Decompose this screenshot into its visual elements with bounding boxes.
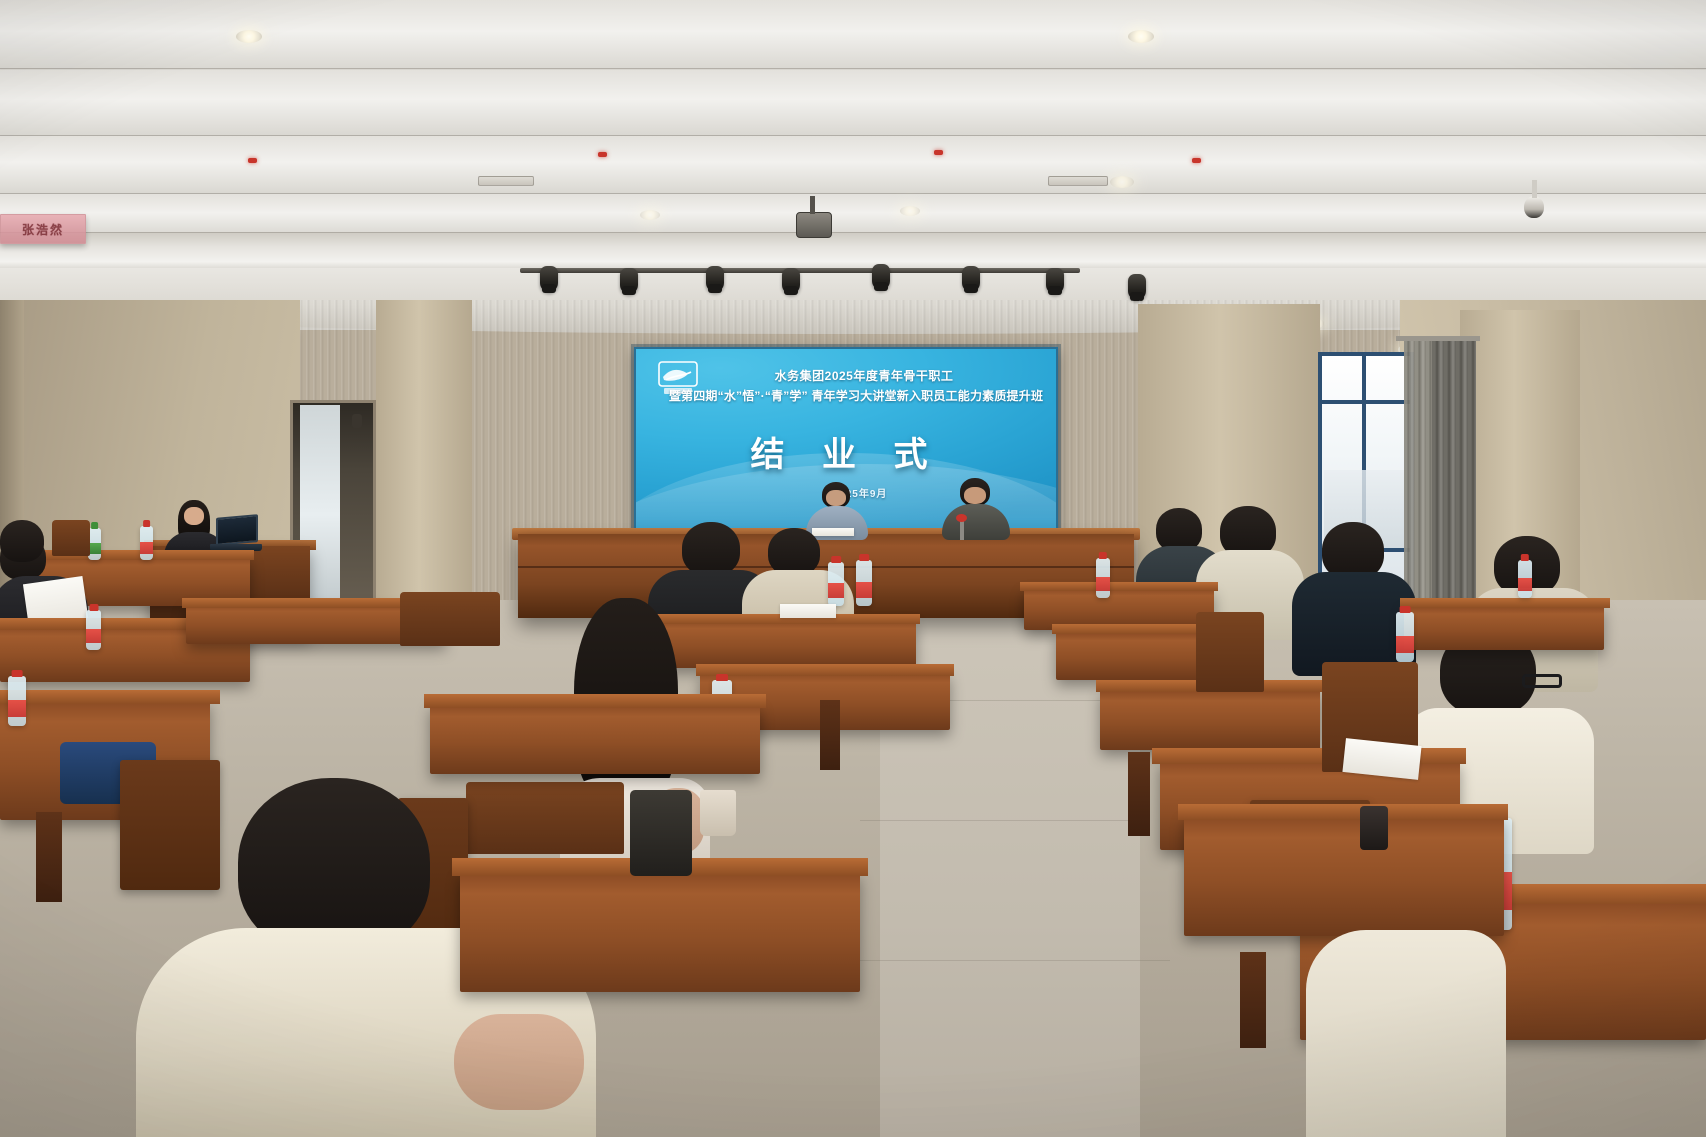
operator-face xyxy=(184,507,204,525)
track-spotlight-4 xyxy=(782,268,800,294)
desk-leg-right xyxy=(1128,752,1150,836)
track-spotlight-7 xyxy=(1046,268,1064,294)
curtain-rod xyxy=(1396,336,1480,341)
downlight-1 xyxy=(236,30,262,43)
screen-org-line: 水务集团2025年度青年骨干职工 xyxy=(654,367,1058,384)
desk-leg-right-2 xyxy=(1240,952,1266,1048)
track-spotlight-1 xyxy=(540,266,558,292)
screen-main-title: 结 业 式 xyxy=(636,427,1056,476)
center-paper-1[interactable] xyxy=(780,604,836,618)
left-near-desk-surface xyxy=(0,690,220,704)
head-table-microphone xyxy=(960,520,964,540)
center-desk-row2-surface xyxy=(696,664,954,676)
center-desk-row3-surface xyxy=(424,694,766,708)
placard-zhang-haoran: 张浩然 xyxy=(0,214,86,244)
ceiling-projector xyxy=(796,212,832,238)
left-desk-leg xyxy=(36,812,62,902)
center-desk-row3 xyxy=(430,704,760,774)
water-bottle-4[interactable] xyxy=(8,676,26,726)
ac-vent-left xyxy=(478,176,534,186)
water-bottle-3[interactable] xyxy=(86,610,101,650)
right-far-desk xyxy=(1404,606,1604,650)
right-thermos[interactable] xyxy=(1360,806,1388,850)
floor-tile-line-3 xyxy=(830,960,1170,961)
right-glasses-icon xyxy=(1522,674,1562,688)
track-spotlight-6 xyxy=(962,266,980,292)
projector-mount xyxy=(810,196,815,214)
front-attendee-arm xyxy=(454,1014,584,1110)
speaker-right-face xyxy=(964,487,986,504)
water-bottle-6[interactable] xyxy=(856,560,872,606)
speaker-left-face xyxy=(826,490,846,506)
conference-room-photo: 水务集团2025年度青年骨干职工 暨第四期“水”悟”·“青”学” 青年学习大讲堂… xyxy=(0,0,1706,1137)
center-chair-1[interactable] xyxy=(400,592,500,646)
right-desk-row3 xyxy=(1100,690,1320,750)
attendee-bottom-right xyxy=(1306,930,1506,1137)
right-desk-row1-surface xyxy=(1020,582,1218,591)
head-table-speaker-right xyxy=(942,478,1010,538)
far-left-head xyxy=(0,520,44,562)
ceiling-band-2 xyxy=(0,70,1706,136)
bottom-right-desk-2-surface xyxy=(1178,804,1508,820)
water-bottle-2[interactable] xyxy=(140,526,153,560)
wall-column-left xyxy=(376,300,472,630)
downlight-9 xyxy=(1110,176,1134,188)
right-far-desk-surface xyxy=(1400,598,1610,608)
right-chair-1[interactable] xyxy=(1196,612,1264,692)
track-spotlight-8 xyxy=(1128,274,1146,300)
track-spotlight-5 xyxy=(872,264,890,290)
speaker-right-body xyxy=(942,504,1010,540)
screen-program-line: 暨第四期“水”悟”·“青”学” 青年学习大讲堂新入职员工能力素质提升班 xyxy=(646,387,1058,404)
water-bottle-8[interactable] xyxy=(1096,558,1110,598)
ceiling-band-3 xyxy=(0,136,1706,194)
water-bottle-9[interactable] xyxy=(1396,612,1414,662)
water-bottle-10[interactable] xyxy=(1518,560,1532,598)
ceiling-seam-1 xyxy=(0,68,1706,69)
operator-laptop-screen[interactable] xyxy=(216,514,258,546)
track-spotlight-3 xyxy=(706,266,724,292)
floor-tile-line-2 xyxy=(860,820,1140,821)
attendee-center-head xyxy=(682,522,740,576)
water-bottle-5[interactable] xyxy=(828,562,844,606)
smoke-detector-light-1 xyxy=(248,158,257,163)
door-speaker-icon xyxy=(352,414,362,428)
security-camera-icon xyxy=(1524,196,1544,218)
downlight-8 xyxy=(900,206,920,216)
attendee-beige-head xyxy=(768,528,820,576)
downlight-7 xyxy=(640,210,660,220)
smoke-detector-light-2 xyxy=(598,152,607,157)
track-spotlight-2 xyxy=(620,268,638,294)
camera-mount xyxy=(1532,180,1537,198)
smoke-detector-light-4 xyxy=(1192,158,1201,163)
window-mullion-horizontal xyxy=(1322,400,1412,404)
center-cup[interactable] xyxy=(700,790,736,836)
desk-leg-center xyxy=(820,700,840,770)
smoke-detector-light-3 xyxy=(934,150,943,155)
placard-text: 张浩然 xyxy=(22,221,64,238)
head-table-microphone-head xyxy=(956,514,967,522)
center-handbag[interactable] xyxy=(630,790,692,876)
front-center-desk xyxy=(460,872,860,992)
bottom-right-desk-2 xyxy=(1184,816,1504,936)
attendee-far-left-edge xyxy=(0,520,60,640)
ceiling-band-4 xyxy=(0,194,1706,236)
lighting-track xyxy=(520,268,1080,273)
downlight-2 xyxy=(1128,30,1154,43)
ac-vent-right xyxy=(1048,176,1108,186)
bottom-right-body xyxy=(1306,930,1506,1137)
